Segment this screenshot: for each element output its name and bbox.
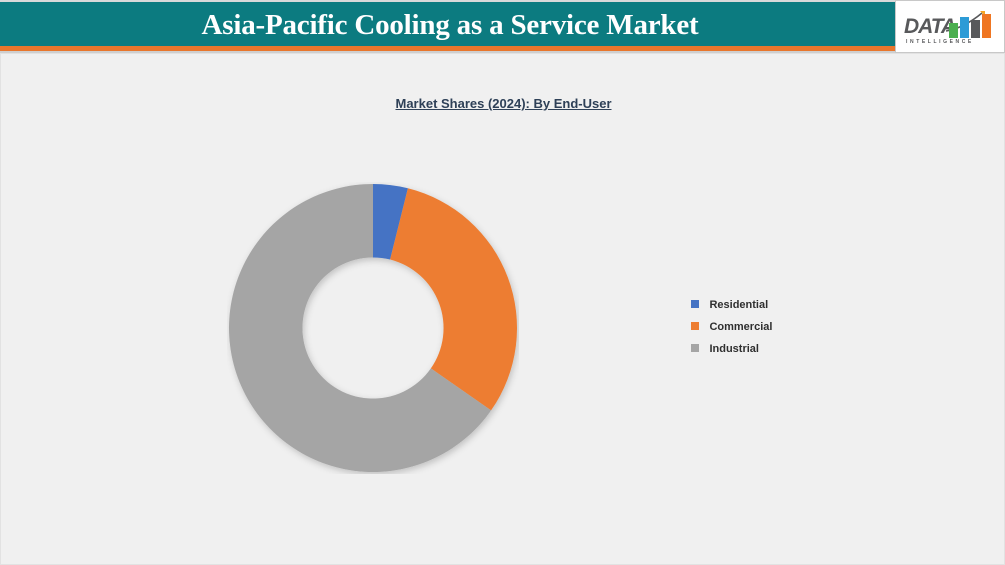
donut-chart <box>227 182 519 474</box>
page-title: Asia-Pacific Cooling as a Service Market <box>0 2 900 48</box>
brand-logo: DATA INTELLIGENCE <box>895 0 1005 53</box>
logo-subtitle: INTELLIGENCE <box>906 39 974 45</box>
legend-label-industrial: Industrial <box>709 338 759 360</box>
legend-label-commercial: Commercial <box>709 316 772 338</box>
legend-swatch-residential <box>691 300 699 308</box>
logo-bar-orange <box>982 14 991 38</box>
legend-item-residential[interactable]: Residential <box>691 294 871 316</box>
chart-title: Market Shares (2024): By End-User <box>1 96 1005 111</box>
logo-bars <box>949 13 995 38</box>
legend-swatch-industrial <box>691 344 699 352</box>
donut-chart-svg <box>227 182 519 474</box>
legend-label-residential: Residential <box>709 294 768 316</box>
chart-legend: Residential Commercial Industrial <box>691 294 871 360</box>
chart-canvas: Market Shares (2024): By End-User Reside… <box>0 53 1005 565</box>
legend-swatch-commercial <box>691 322 699 330</box>
logo-bar-green <box>949 23 958 38</box>
logo-bar-blue <box>960 17 969 38</box>
header-band: Asia-Pacific Cooling as a Service Market <box>0 0 1005 46</box>
donut-slice-commercial[interactable] <box>390 188 517 410</box>
logo-inner: DATA INTELLIGENCE <box>904 8 998 46</box>
legend-item-industrial[interactable]: Industrial <box>691 338 871 360</box>
logo-bar-gray <box>971 20 980 38</box>
legend-item-commercial[interactable]: Commercial <box>691 316 871 338</box>
slide: Asia-Pacific Cooling as a Service Market… <box>0 0 1005 565</box>
